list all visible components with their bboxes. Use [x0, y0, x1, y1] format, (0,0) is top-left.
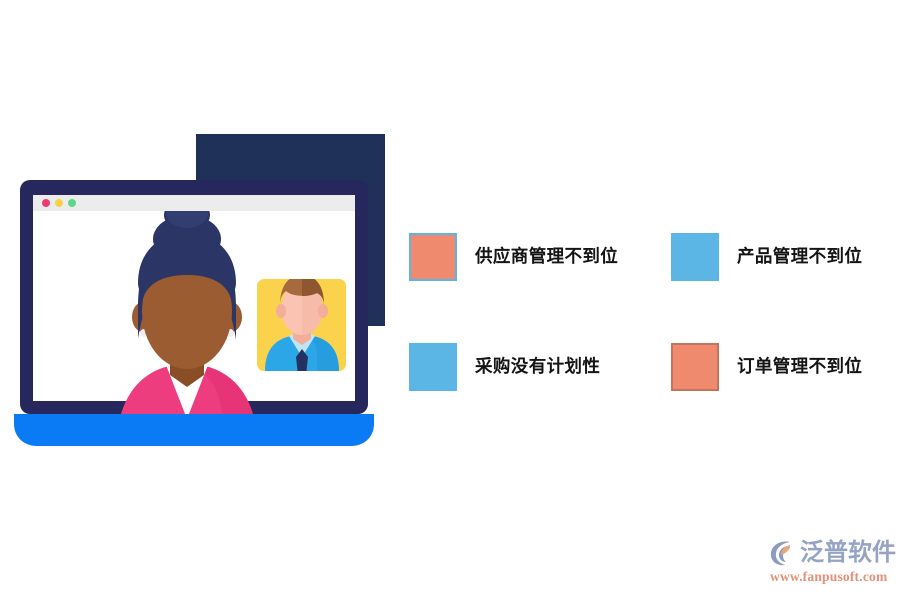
dot-green-icon	[68, 199, 76, 207]
brand-logo-row: 泛普软件	[768, 538, 892, 568]
legend-label-supplier: 供应商管理不到位	[475, 248, 618, 266]
legend-swatch-supplier	[409, 233, 457, 281]
legend-label-purchasing: 采购没有计划性	[475, 358, 600, 376]
video-call-laptop-illustration	[12, 128, 402, 450]
legend-swatch-product	[671, 233, 719, 281]
brand-logo[interactable]: 泛普软件 www.fanpusoft.com	[768, 538, 892, 584]
brand-logo-url: www.fanpusoft.com	[770, 569, 892, 585]
legend-item-order[interactable]: 订单管理不到位	[671, 341, 900, 393]
legend-label-order: 订单管理不到位	[737, 358, 862, 376]
window-titlebar	[33, 195, 355, 211]
legend-swatch-order	[671, 343, 719, 391]
legend-item-purchasing[interactable]: 采购没有计划性	[409, 341, 671, 393]
brand-logo-name: 泛普软件	[800, 541, 896, 565]
dot-yellow-icon	[55, 199, 63, 207]
dot-red-icon	[42, 199, 50, 207]
page-canvas: 供应商管理不到位 产品管理不到位 采购没有计划性 订单管理不到位 泛普软	[0, 0, 900, 600]
legend-item-supplier[interactable]: 供应商管理不到位	[409, 231, 671, 283]
laptop-base	[14, 414, 374, 446]
legend-label-product: 产品管理不到位	[737, 248, 862, 266]
participant-thumbnail-card	[257, 275, 346, 375]
fanpu-logo-mark-icon	[768, 539, 796, 567]
pain-points-legend: 供应商管理不到位 产品管理不到位 采购没有计划性 订单管理不到位	[409, 231, 889, 401]
legend-swatch-purchasing	[409, 343, 457, 391]
legend-item-product[interactable]: 产品管理不到位	[671, 231, 900, 283]
